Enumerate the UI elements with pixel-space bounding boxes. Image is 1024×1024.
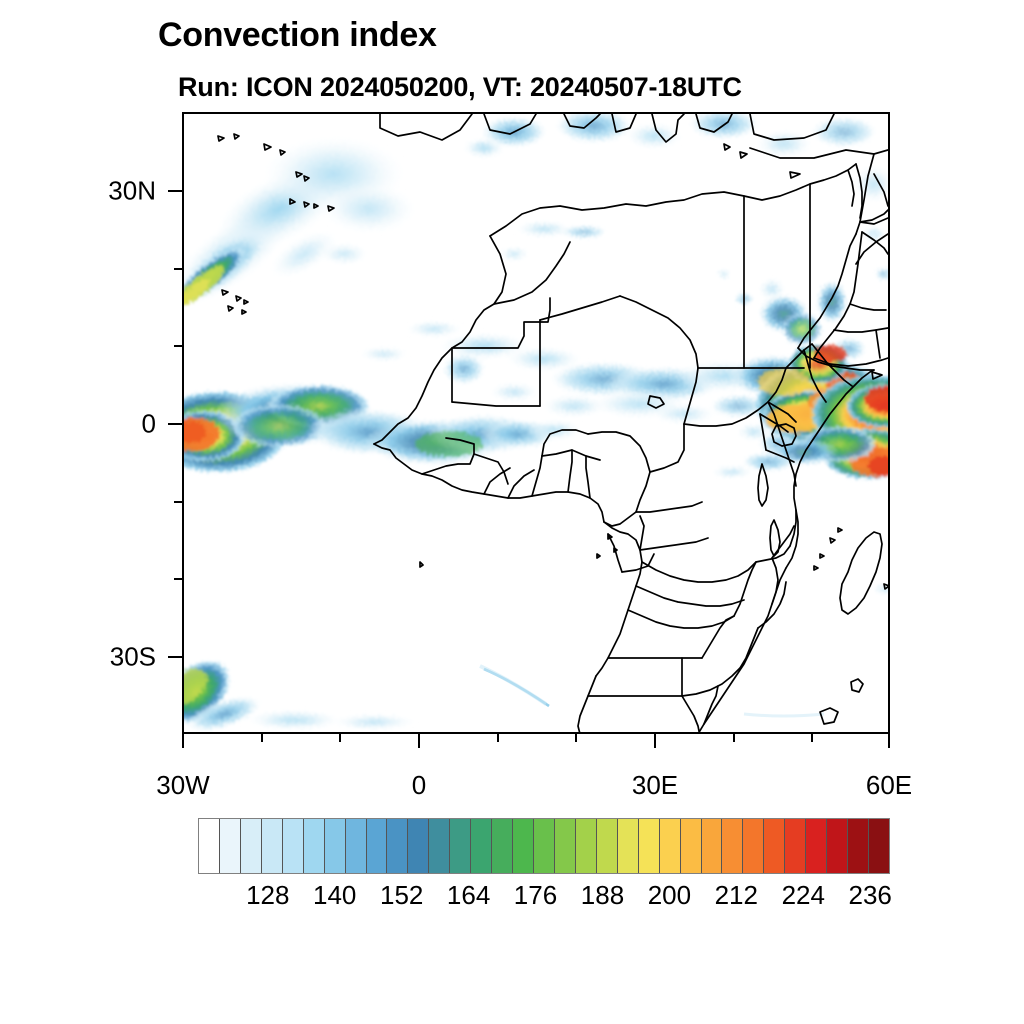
colorbar-tick-label: 200 [648,880,691,911]
y-tick-minor [174,501,182,503]
feature-sahel-congo-band [358,320,774,425]
convection-field-layer [184,114,888,732]
colorbar-cell [660,819,681,873]
feature-mediterranean-cells [462,114,888,262]
convection-index-figure: Convection index Run: ICON 2024050200, V… [0,0,1024,1024]
x-tick-major [182,734,184,748]
x-axis-label-60e: 60E [866,770,912,801]
colorbar-cell [304,819,325,873]
colorbar-cell [450,819,471,873]
y-axis-label-30n: 30N [100,176,156,207]
x-tick-major [888,734,890,748]
colorbar-cell [387,819,408,873]
feature-southern-frontal-filament [480,666,824,716]
colorbar-cell [702,819,723,873]
colorbar-tick-label: 128 [246,880,289,911]
colorbar[interactable]: 128 140 152 164 176 188 200 212 224 236 [198,818,890,874]
colorbar-cell [618,819,639,873]
colorbar-cells[interactable] [198,818,890,874]
colorbar-cell [408,819,429,873]
colorbar-cell [827,819,848,873]
x-tick-minor [733,734,735,742]
x-axis-label-30e: 30E [632,770,678,801]
colorbar-cell [367,819,388,873]
x-tick-minor [339,734,341,742]
page-subtitle: Run: ICON 2024050200, VT: 20240507-18UTC [178,72,742,103]
colorbar-cell [576,819,597,873]
colorbar-cell [743,819,764,873]
x-axis-label-30w: 30W [156,770,209,801]
feature-southwest-atlantic-band [184,646,418,732]
feature-northwest-atlantic-frontal-band [184,134,419,326]
colorbar-cell [848,819,869,873]
y-tick-major [168,656,182,658]
colorbar-cell [283,819,304,873]
x-tick-minor [811,734,813,742]
y-axis-label-30s: 30S [100,642,156,673]
x-tick-minor [497,734,499,742]
y-axis-label-0: 0 [100,409,156,440]
colorbar-cell [722,819,743,873]
x-tick-minor [261,734,263,742]
colorbar-cell [534,819,555,873]
x-tick-major [654,734,656,748]
map-canvas [184,114,888,732]
colorbar-tick-label: 152 [380,880,423,911]
colorbar-cell [199,819,220,873]
y-tick-minor [174,268,182,270]
colorbar-cell [639,819,660,873]
map-plot-area[interactable] [182,112,890,734]
colorbar-cell [492,819,513,873]
x-tick-major [418,734,420,748]
colorbar-cell [764,819,785,873]
y-tick-major [168,190,182,192]
colorbar-cell [681,819,702,873]
page-title: Convection index [158,16,437,55]
colorbar-cell [471,819,492,873]
colorbar-tick-label: 176 [514,880,557,911]
colorbar-cell [597,819,618,873]
colorbar-cell [262,819,283,873]
colorbar-cell [346,819,367,873]
colorbar-tick-label: 164 [447,880,490,911]
y-tick-minor [174,345,182,347]
colorbar-tick-label: 140 [313,880,356,911]
x-tick-minor [575,734,577,742]
colorbar-tick-label: 188 [581,880,624,911]
colorbar-tick-label: 224 [782,880,825,911]
colorbar-cell [869,819,889,873]
colorbar-cell [555,819,576,873]
x-axis-label-0: 0 [412,770,426,801]
colorbar-cell [513,819,534,873]
y-tick-major [168,423,182,425]
colorbar-cell [785,819,806,873]
colorbar-tick-label: 236 [848,880,891,911]
y-tick-minor [174,578,182,580]
colorbar-tick-label: 212 [715,880,758,911]
colorbar-cell [241,819,262,873]
colorbar-cell [806,819,827,873]
colorbar-cell [429,819,450,873]
colorbar-cell [325,819,346,873]
colorbar-cell [220,819,241,873]
